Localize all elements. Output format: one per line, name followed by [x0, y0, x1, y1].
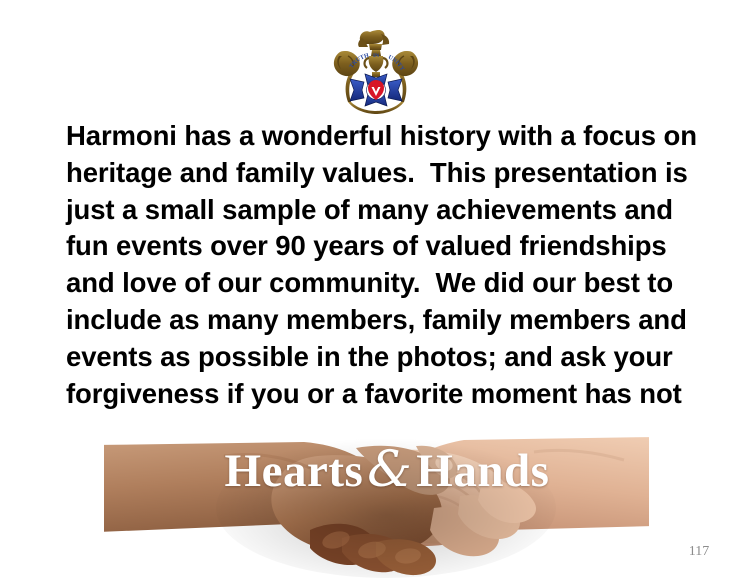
message-line: include as many members, family members …	[66, 302, 714, 339]
slide-message-text: Harmoni has a wonderful history with a f…	[66, 118, 714, 454]
svg-text:IN: IN	[373, 53, 379, 59]
message-line: events as possible in the photos; and as…	[66, 339, 714, 376]
message-line: Harmoni has a wonderful history with a f…	[66, 118, 714, 155]
message-line: heritage and family values. This present…	[66, 155, 714, 192]
page-number: 117	[678, 544, 720, 560]
banner-title-ampersand: &	[363, 440, 416, 498]
banner-title-part2: Hands	[416, 445, 549, 497]
vasa-order-emblem-icon: TRUTH UNITY IN	[326, 26, 426, 116]
message-line: and love of our community. We did our be…	[66, 265, 714, 302]
message-line: just a small sample of many achievements…	[66, 192, 714, 229]
banner-title: Hearts&Hands	[196, 440, 578, 498]
banner-title-part1: Hearts	[225, 445, 364, 497]
message-line: fun events over 90 years of valued frien…	[66, 228, 714, 265]
presentation-slide: TRUTH UNITY IN Harmoni has a wonderful h…	[0, 0, 753, 580]
message-line: forgiveness if you or a favorite moment …	[66, 376, 714, 413]
